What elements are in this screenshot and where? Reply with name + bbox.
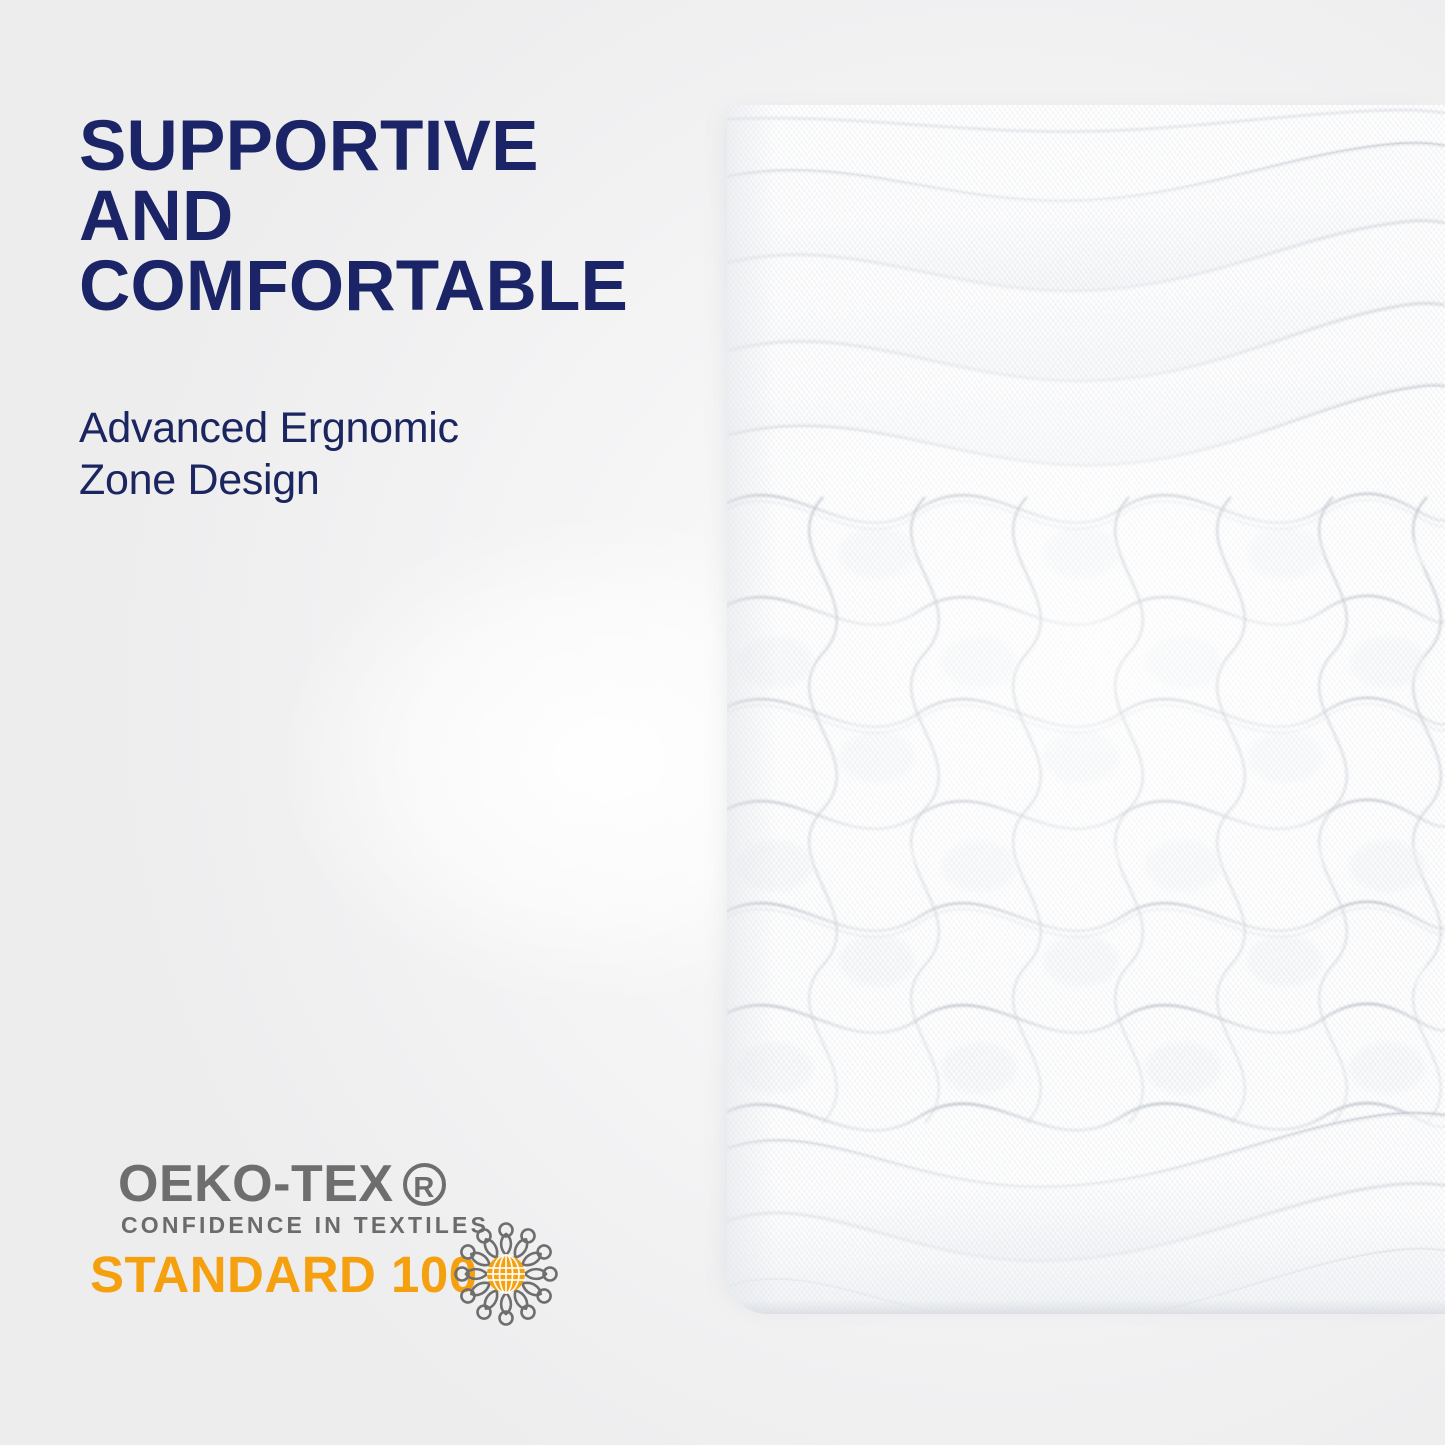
oeko-tex-tagline: CONFIDENCE IN TEXTILES xyxy=(121,1214,489,1237)
globe-rosette-icon xyxy=(452,1220,560,1328)
subtitle-line-2: Zone Design xyxy=(79,454,639,506)
page-title: SUPPORTIVE AND COMFORTABLE xyxy=(79,112,699,322)
registered-trademark-icon: R xyxy=(403,1163,446,1206)
oeko-tex-certification-badge: OEKO-TEX R CONFIDENCE IN TEXTILES STANDA… xyxy=(118,1158,578,1308)
mattress-quilting xyxy=(727,105,1445,1314)
product-marketing-image: SUPPORTIVE AND COMFORTABLE Advanced Ergn… xyxy=(0,0,1445,1445)
oeko-tex-name: OEKO-TEX xyxy=(118,1158,394,1210)
headline-line-2: AND xyxy=(79,182,699,252)
headline-line-3: COMFORTABLE xyxy=(79,252,699,322)
quilted-mattress-pad xyxy=(727,105,1445,1314)
oeko-tex-standard-label: STANDARD 100 xyxy=(90,1249,478,1300)
headline-line-1: SUPPORTIVE xyxy=(79,112,699,182)
subtitle-line-1: Advanced Ergnomic xyxy=(79,402,639,454)
subtitle: Advanced Ergnomic Zone Design xyxy=(79,402,639,506)
oeko-tex-wordmark: OEKO-TEX R xyxy=(118,1158,446,1210)
